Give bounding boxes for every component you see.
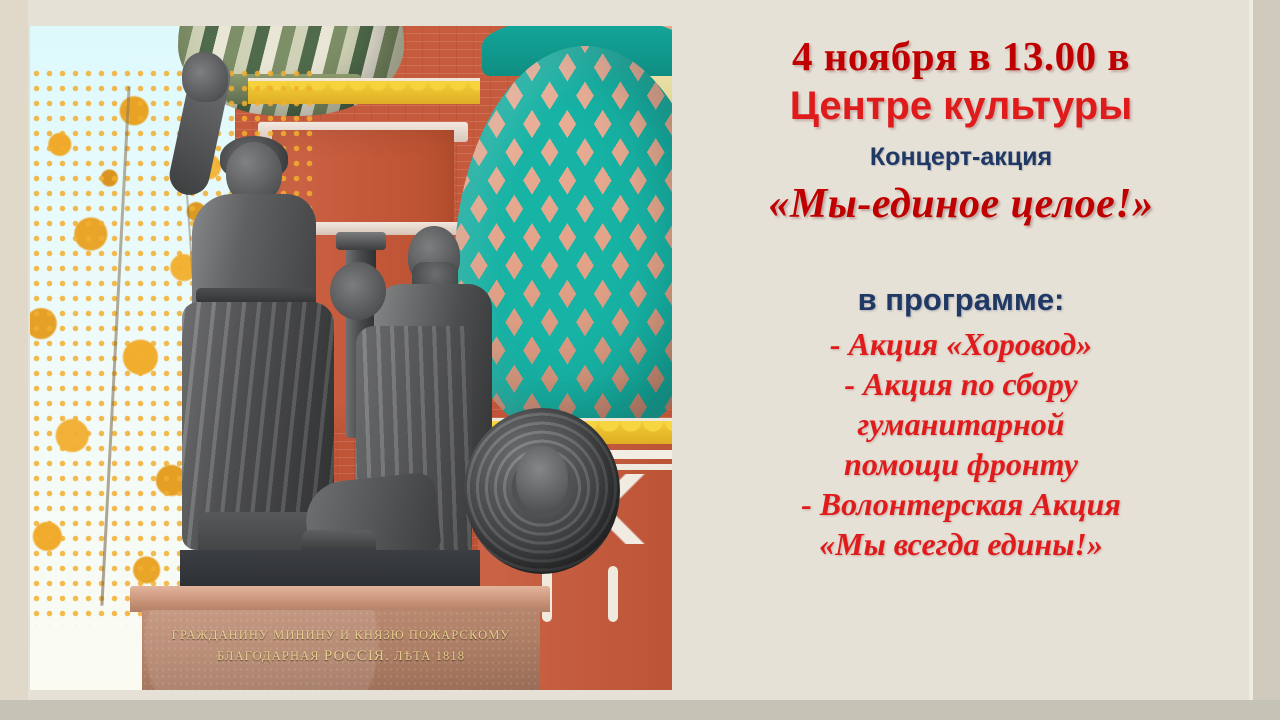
inscription-line-2-part-b: РОССІЯ. xyxy=(324,648,390,664)
shield-relief-face xyxy=(516,446,568,514)
program-item: - Акция по сбору xyxy=(801,364,1121,404)
pedestal-cap xyxy=(130,586,550,612)
program-list: - Акция «Хоровод» - Акция по сбору гуман… xyxy=(801,324,1121,564)
program-item: «Мы всегда едины!» xyxy=(801,524,1121,564)
poster-canvas: ГРАЖДАНИНУ МИНИНУ И КНЯЗЮ ПОЖАРСКОМУ БЛА… xyxy=(0,0,1280,720)
event-venue-line: Центре культуры xyxy=(790,83,1133,129)
program-item: гуманитарной xyxy=(801,404,1121,444)
monument-photo: ГРАЖДАНИНУ МИНИНУ И КНЯЗЮ ПОЖАРСКОМУ БЛА… xyxy=(30,26,672,690)
inscription-line-1: ГРАЖДАНИНУ МИНИНУ И КНЯЗЮ ПОЖАРСКОМУ xyxy=(142,626,540,645)
event-date-line: 4 ноября в 13.00 в xyxy=(792,34,1130,79)
program-item: помощи фронту xyxy=(801,444,1121,484)
pedestal-inscription: ГРАЖДАНИНУ МИНИНУ И КНЯЗЮ ПОЖАРСКОМУ БЛА… xyxy=(142,626,540,667)
left-border-strip xyxy=(0,0,28,700)
inscription-line-2-part-c: ЛѢТА 1818 xyxy=(390,649,465,663)
program-item: - Акция «Хоровод» xyxy=(801,324,1121,364)
right-border-strip xyxy=(1253,0,1280,720)
bottom-border-strip xyxy=(0,700,1280,720)
event-kind-label: Концерт-акция xyxy=(870,143,1052,172)
sword-hilt xyxy=(336,232,386,250)
program-item: - Волонтерская Акция xyxy=(801,484,1121,524)
event-title: «Мы-единое целое!» xyxy=(768,180,1153,228)
program-heading: в программе: xyxy=(858,282,1065,318)
pozharsky-arm xyxy=(330,262,386,320)
lower-tower-window-slot xyxy=(608,566,618,622)
inscription-line-2-part-a: БЛАГОДАРНАЯ xyxy=(217,649,324,663)
inscription-line-2: БЛАГОДАРНАЯ РОССІЯ. ЛѢТА 1818 xyxy=(142,645,540,668)
minin-raised-hand xyxy=(182,52,228,102)
announcement-text-column: 4 ноября в 13.00 в Центре культуры Конце… xyxy=(676,18,1246,690)
